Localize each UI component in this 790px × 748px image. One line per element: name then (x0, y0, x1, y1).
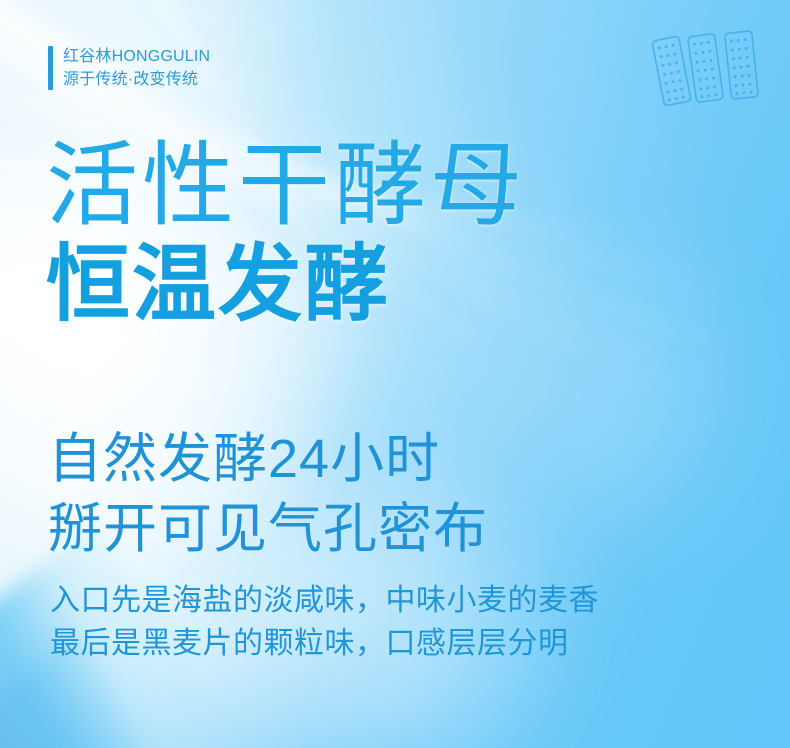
brand-slogan: 源于传统·改变传统 (63, 69, 210, 90)
brand-text-block: 红谷林HONGGULIN 源于传统·改变传统 (63, 46, 210, 90)
description-block: 入口先是海盐的淡咸味，中味小麦的麦香 最后是黑麦片的颗粒味，口感层层分明 (50, 580, 599, 665)
brand-accent-bar (48, 46, 53, 90)
description-line-2: 最后是黑麦片的颗粒味，口感层层分明 (50, 623, 599, 666)
subheadline-line-2: 掰开可见气孔密布 (48, 494, 488, 564)
headline-primary: 活性干酵母 (46, 139, 746, 234)
product-banner: 红谷林HONGGULIN 源于传统·改变传统 (0, 0, 790, 748)
brand-name: 红谷林HONGGULIN (63, 46, 210, 67)
description-line-1: 入口先是海盐的淡咸味，中味小麦的麦香 (50, 580, 599, 623)
subheadline-line-1: 自然发酵24小时 (48, 424, 488, 494)
headline-secondary: 恒温发酵 (46, 240, 746, 328)
headline-block: 活性干酵母 恒温发酵 (46, 139, 746, 328)
cracker-biscuit-icon (652, 26, 772, 114)
subheadline-block: 自然发酵24小时 掰开可见气孔密布 (48, 424, 488, 564)
brand-lockup: 红谷林HONGGULIN 源于传统·改变传统 (48, 46, 210, 90)
